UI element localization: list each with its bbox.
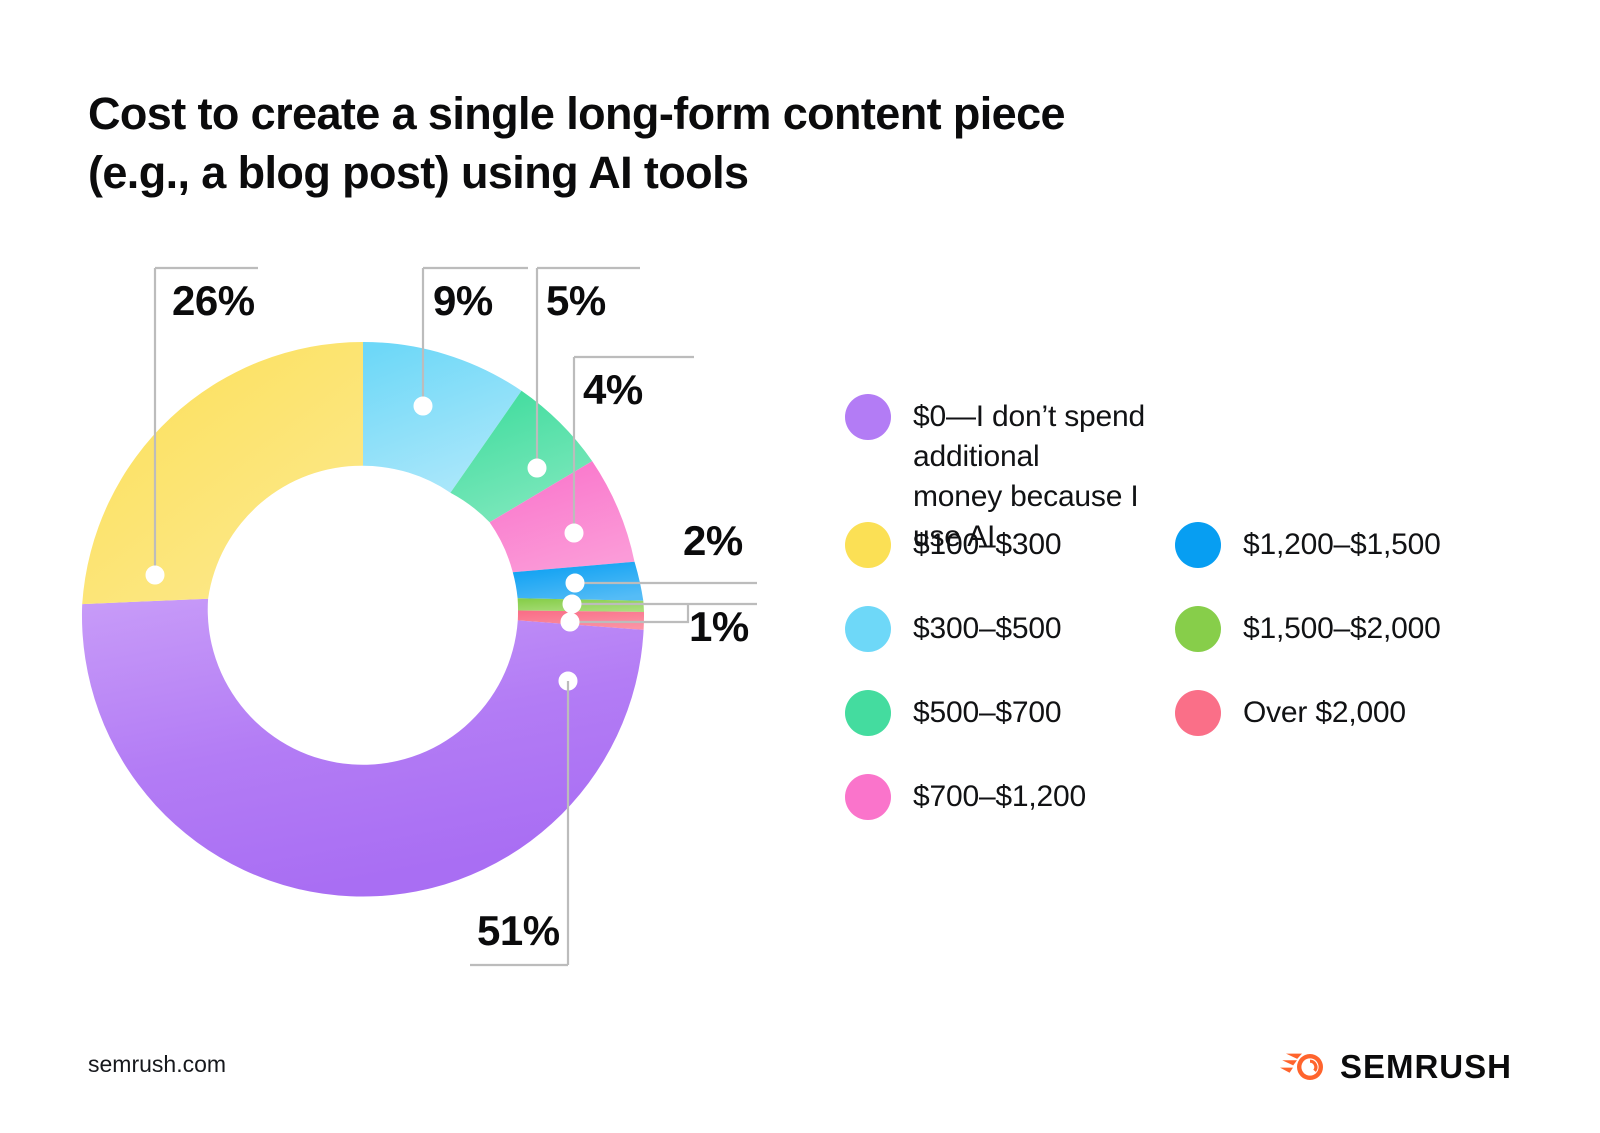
- legend-item-7[interactable]: Over $2,000: [1175, 689, 1406, 736]
- slice-zero[interactable]: [82, 599, 644, 897]
- callout-51-label: 51%: [477, 907, 560, 955]
- dot-1a: [563, 595, 581, 613]
- legend-item-1[interactable]: $100–$300: [845, 521, 1061, 568]
- legend-label-1: $100–$300: [913, 521, 1061, 565]
- callout-1-label: 1%: [689, 603, 749, 651]
- legend-item-4[interactable]: $700–$1,200: [845, 773, 1086, 820]
- chart-page: Cost to create a single long-form conten…: [0, 0, 1600, 1133]
- dot-2: [566, 574, 584, 592]
- legend-label-5: $1,200–$1,500: [1243, 521, 1441, 565]
- semrush-wordmark: SEMRUSH: [1340, 1048, 1512, 1086]
- legend-swatch-icon-6: [1175, 606, 1221, 652]
- legend-swatch-icon-2: [845, 606, 891, 652]
- legend-swatch-icon-7: [1175, 690, 1221, 736]
- callout-26-label: 26%: [172, 277, 255, 325]
- donut-chart-svg: [0, 0, 820, 1010]
- legend-swatch-icon-4: [845, 774, 891, 820]
- dot-1b: [561, 613, 579, 631]
- legend-label-7: Over $2,000: [1243, 689, 1406, 733]
- donut-slices: [82, 342, 644, 897]
- legend-item-5[interactable]: $1,200–$1,500: [1175, 521, 1441, 568]
- legend-label-6: $1,500–$2,000: [1243, 605, 1441, 649]
- legend-item-2[interactable]: $300–$500: [845, 605, 1061, 652]
- callout-5-label: 5%: [546, 277, 606, 325]
- callout-9-label: 9%: [433, 277, 493, 325]
- legend-swatch-icon-3: [845, 690, 891, 736]
- legend-label-2: $300–$500: [913, 605, 1061, 649]
- legend-swatch-icon-1: [845, 522, 891, 568]
- legend-item-3[interactable]: $500–$700: [845, 689, 1061, 736]
- legend-item-6[interactable]: $1,500–$2,000: [1175, 605, 1441, 652]
- semrush-logo: SEMRUSH: [1280, 1048, 1512, 1086]
- dot-9: [414, 397, 432, 415]
- footer-source-url: semrush.com: [88, 1051, 226, 1078]
- legend-label-3: $500–$700: [913, 689, 1061, 733]
- legend-swatch-icon-0: [845, 394, 891, 440]
- semrush-comet-icon: [1280, 1050, 1326, 1084]
- donut-chart: [0, 0, 820, 1010]
- dot-4: [565, 524, 583, 542]
- legend-label-4: $700–$1,200: [913, 773, 1086, 817]
- callout-4-label: 4%: [583, 366, 643, 414]
- dot-5: [528, 459, 546, 477]
- slice-100-300[interactable]: [82, 342, 363, 604]
- callout-2-label: 2%: [683, 517, 743, 565]
- legend-swatch-icon-5: [1175, 522, 1221, 568]
- dot-26: [146, 566, 164, 584]
